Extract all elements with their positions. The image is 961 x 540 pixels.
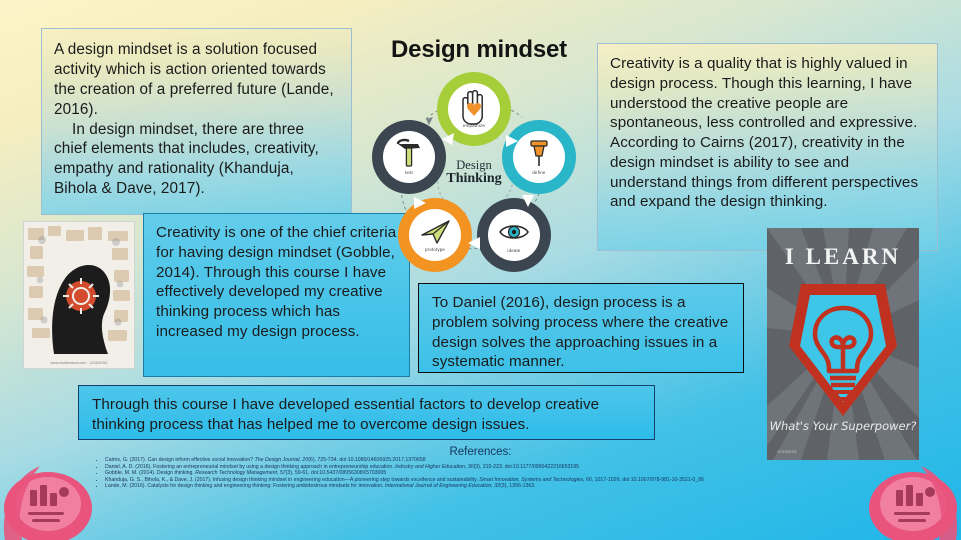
brain-image-caption: www.shutterstock.com · 223452052 — [51, 361, 108, 365]
wheel-label-empathize: empathize — [452, 123, 496, 128]
essential-paragraph-1: Through this course I have developed ess… — [92, 395, 643, 435]
references-items: Cairns, G. (2017). Can design inform eff… — [95, 458, 885, 490]
mindset-paragraph-1: A design mindset is a solution focused a… — [54, 40, 339, 120]
gobble-paragraph-1: Creativity is one of the chief criteria … — [156, 223, 398, 342]
wheel-label-ideate: ideate — [492, 248, 536, 253]
brain-idea-image: www.shutterstock.com · 223452052 — [23, 221, 135, 369]
text-card-essential-factors: Through this course I have developed ess… — [78, 385, 655, 440]
text-card-design-mindset: A design mindset is a solution focused a… — [41, 28, 352, 215]
page-title: Design mindset — [368, 36, 590, 64]
reference-item: Cairns, G. (2017). Can design inform eff… — [105, 458, 885, 464]
daniel-paragraph-1: To Daniel (2016), design process is a pr… — [432, 293, 732, 372]
poster-subtitle: What's Your Superpower? — [767, 419, 919, 433]
i-learn-poster-image: I LEARN What's Your Superpower? venspire… — [767, 228, 919, 460]
poster-title: I LEARN — [767, 244, 919, 270]
wheel-label-define: define — [517, 170, 561, 175]
wheel-label-prototype: prototype — [413, 247, 457, 252]
text-card-creativity-quality: Creativity is a quality that is highly v… — [597, 43, 938, 251]
eye-icon — [500, 226, 528, 238]
reference-item: Lande, M. (2016). Catalysts for design t… — [105, 484, 885, 490]
wheel-label-test: test — [387, 170, 431, 175]
mindset-paragraph-2: In design mindset, there are three chief… — [54, 120, 339, 200]
text-card-daniel-process: To Daniel (2016), design process is a pr… — [418, 283, 744, 373]
creativity-paragraph-1: Creativity is a quality that is highly v… — [610, 54, 925, 212]
design-thinking-wheel: empathize define ideate prototype test D… — [368, 65, 580, 280]
references-list: Cairns, G. (2017). Can design inform eff… — [95, 458, 885, 491]
